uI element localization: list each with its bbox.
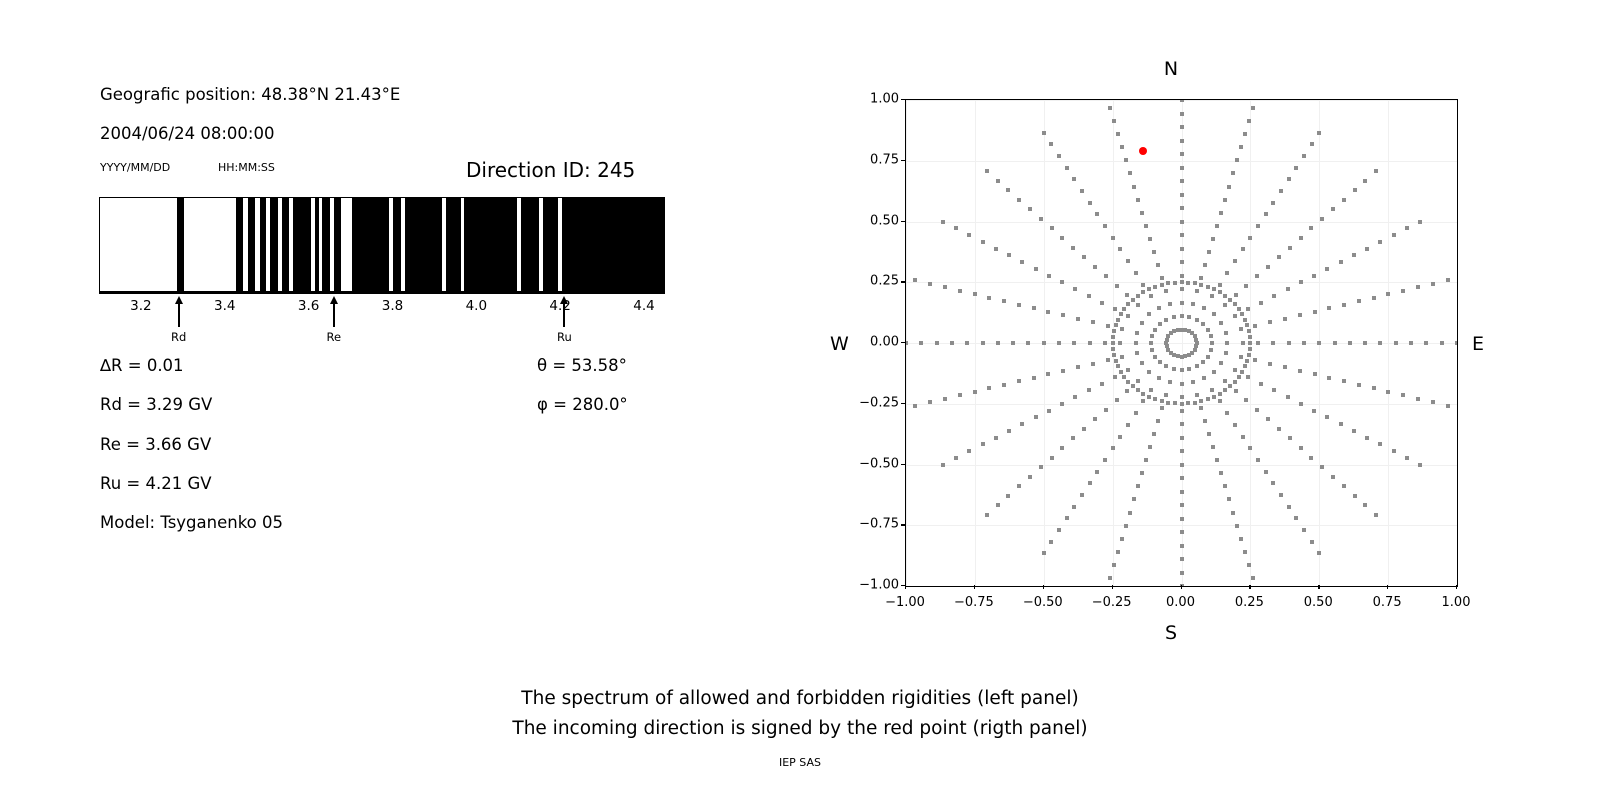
direction-point xyxy=(1193,401,1197,405)
direction-point xyxy=(1227,185,1231,189)
direction-point xyxy=(1223,303,1227,307)
direction-point xyxy=(1148,237,1152,241)
forbidden-band xyxy=(405,198,442,291)
direction-point xyxy=(941,463,945,467)
direction-point xyxy=(1080,189,1084,193)
direction-point xyxy=(1115,398,1119,402)
direction-point xyxy=(1132,185,1136,189)
direction-point xyxy=(1116,364,1120,368)
direction-point xyxy=(1006,188,1010,192)
direction-point xyxy=(1180,409,1184,413)
direction-point xyxy=(1259,382,1263,386)
x-tick-mark xyxy=(1456,585,1457,589)
compass-west-label: W xyxy=(830,333,849,355)
direction-point xyxy=(1255,408,1259,412)
direction-point xyxy=(967,449,971,453)
direction-point xyxy=(1233,259,1237,263)
direction-point xyxy=(1073,287,1077,291)
direction-point xyxy=(1180,220,1184,224)
direction-point xyxy=(1241,435,1245,439)
direction-point xyxy=(1223,379,1227,383)
direction-point xyxy=(1203,419,1207,423)
direction-point xyxy=(1212,370,1216,374)
direction-point xyxy=(1042,131,1046,135)
direction-point xyxy=(1148,445,1152,449)
direction-point xyxy=(1233,302,1237,306)
direction-point xyxy=(1136,303,1140,307)
direction-point xyxy=(1233,314,1237,318)
x-tick-label: −0.75 xyxy=(954,595,994,610)
direction-point xyxy=(1264,470,1268,474)
direction-point xyxy=(1247,353,1251,357)
direction-point xyxy=(1209,348,1213,352)
direction-point xyxy=(1091,362,1095,366)
direction-point xyxy=(967,233,971,237)
rigidity-spectrum-panel: Geografic position: 48.38°N 21.43°E 2004… xyxy=(0,0,780,800)
direction-point xyxy=(1028,475,1032,479)
direction-point xyxy=(1020,422,1024,426)
direction-point xyxy=(1409,341,1413,345)
direction-point xyxy=(1140,211,1144,215)
direction-point xyxy=(941,220,945,224)
direction-point xyxy=(1118,341,1122,345)
direction-point xyxy=(1248,236,1252,240)
direction-point xyxy=(1225,411,1229,415)
direction-point xyxy=(1212,395,1216,399)
direction-point xyxy=(1141,399,1145,403)
direction-point xyxy=(1233,368,1237,372)
direction-point xyxy=(1120,327,1124,331)
direction-point xyxy=(1378,442,1382,446)
direction-point xyxy=(1103,224,1107,228)
direction-point xyxy=(1164,364,1168,368)
direction-point xyxy=(1299,446,1303,450)
direction-point xyxy=(1317,341,1321,345)
direction-point xyxy=(1268,320,1272,324)
direction-point xyxy=(1071,246,1075,250)
direction-point xyxy=(1118,435,1122,439)
direction-point xyxy=(1157,376,1161,380)
direction-point xyxy=(985,169,989,173)
direction-point xyxy=(1187,315,1191,319)
direction-point xyxy=(1446,404,1450,408)
direction-point xyxy=(1342,484,1346,488)
direction-point xyxy=(1405,226,1409,230)
direction-point xyxy=(1180,395,1184,399)
direction-point xyxy=(1095,470,1099,474)
direction-point xyxy=(1191,380,1195,384)
direction-point xyxy=(1088,341,1092,345)
caption-line-1: The spectrum of allowed and forbidden ri… xyxy=(0,688,1600,709)
direction-map-panel: N S W E −1.00−0.75−0.50−0.250.000.250.50… xyxy=(830,0,1600,800)
direction-point xyxy=(1223,198,1227,202)
direction-point xyxy=(1256,458,1260,462)
direction-point xyxy=(1180,206,1184,210)
direction-point xyxy=(1233,423,1237,427)
direction-point xyxy=(1050,456,1054,460)
y-tick-label: −0.50 xyxy=(847,456,899,471)
direction-point xyxy=(1240,370,1244,374)
direction-point xyxy=(1180,463,1184,467)
direction-point xyxy=(996,503,1000,507)
direction-point xyxy=(1112,329,1116,333)
x-tick-mark xyxy=(905,585,906,589)
direction-point xyxy=(996,341,1000,345)
direction-point xyxy=(1187,353,1191,357)
caption-line-2: The incoming direction is signed by the … xyxy=(0,718,1600,739)
direction-point xyxy=(1352,429,1356,433)
rigidity-tick-label: 3.4 xyxy=(214,298,235,314)
direction-point xyxy=(1103,341,1107,345)
direction-point xyxy=(1218,392,1222,396)
direction-point xyxy=(1455,341,1458,345)
direction-point xyxy=(1180,280,1184,284)
direction-point xyxy=(1144,458,1148,462)
direction-point xyxy=(1160,283,1164,287)
direction-point xyxy=(1241,247,1245,251)
direction-point xyxy=(1219,361,1223,365)
direction-point xyxy=(1186,401,1190,405)
direction-point xyxy=(1251,576,1255,580)
direction-point xyxy=(1418,463,1422,467)
direction-point xyxy=(1255,274,1259,278)
direction-point xyxy=(1357,383,1361,387)
direction-point xyxy=(1212,312,1216,316)
direction-point xyxy=(1180,530,1184,534)
direction-point xyxy=(1164,289,1168,293)
direction-point xyxy=(1298,313,1302,317)
direction-point xyxy=(1248,335,1252,339)
direction-point xyxy=(1034,415,1038,419)
direction-point xyxy=(1223,484,1227,488)
direction-point xyxy=(1259,301,1263,305)
direction-point xyxy=(1017,303,1021,307)
direction-point xyxy=(1215,458,1219,462)
direction-point xyxy=(1180,193,1184,197)
direction-point xyxy=(1039,217,1043,221)
direction-point xyxy=(1264,212,1268,216)
direction-point xyxy=(1183,354,1187,358)
direction-point xyxy=(1212,287,1216,291)
direction-point xyxy=(1164,393,1168,397)
direction-point xyxy=(1011,341,1015,345)
forbidden-band xyxy=(521,198,539,291)
direction-point xyxy=(1095,212,1099,216)
direction-point xyxy=(1287,505,1291,509)
direction-point xyxy=(1239,145,1243,149)
direction-point xyxy=(985,513,989,517)
direction-point xyxy=(1365,247,1369,251)
parameter-item: θ = 53.58° xyxy=(537,356,627,375)
direction-point xyxy=(1180,503,1184,507)
direction-point xyxy=(1111,335,1115,339)
direction-point xyxy=(1147,370,1151,374)
direction-point xyxy=(1065,516,1069,520)
direction-point xyxy=(1140,321,1144,325)
direction-point xyxy=(1215,224,1219,228)
direction-point xyxy=(919,341,923,345)
y-tick-mark xyxy=(901,221,905,222)
direction-point xyxy=(1299,402,1303,406)
rigidity-tick-label: 4.0 xyxy=(466,298,487,314)
direction-point xyxy=(1342,303,1346,307)
direction-point xyxy=(1320,465,1324,469)
direction-point xyxy=(1186,281,1190,285)
direction-point xyxy=(1202,376,1206,380)
direction-point xyxy=(1128,171,1132,175)
time-format-hint: HH:MM:SS xyxy=(218,161,275,174)
y-tick-label: −1.00 xyxy=(847,578,899,593)
parameter-item: φ = 280.0° xyxy=(537,395,628,414)
direction-point xyxy=(1168,302,1172,306)
direction-point xyxy=(1286,287,1290,291)
direction-point xyxy=(1122,375,1126,379)
direction-point xyxy=(1199,283,1203,287)
direction-point xyxy=(1180,571,1184,575)
direction-point xyxy=(1100,382,1104,386)
direction-point xyxy=(1363,179,1367,183)
direction-point xyxy=(1234,389,1238,393)
direction-point xyxy=(928,282,932,286)
direction-point xyxy=(1147,312,1151,316)
forbidden-band xyxy=(177,198,184,291)
direction-point xyxy=(1156,419,1160,423)
direction-point xyxy=(1327,306,1331,310)
direction-point xyxy=(1207,432,1211,436)
direction-point xyxy=(1180,476,1184,480)
direction-point xyxy=(1211,445,1215,449)
direction-point xyxy=(1211,237,1215,241)
direction-point xyxy=(1283,365,1287,369)
x-tick-label: 1.00 xyxy=(1442,595,1471,610)
direction-point xyxy=(1363,341,1367,345)
direction-point xyxy=(1050,226,1054,230)
direction-point xyxy=(1111,341,1115,345)
forbidden-band xyxy=(334,198,342,291)
forbidden-band xyxy=(352,198,390,291)
direction-point xyxy=(1152,250,1156,254)
direction-point xyxy=(1126,314,1130,318)
marker-arrow-re xyxy=(333,302,335,327)
direction-point xyxy=(1060,280,1064,284)
direction-point xyxy=(1119,370,1123,374)
marker-label-ru: Ru xyxy=(557,330,572,344)
direction-point xyxy=(1180,355,1184,359)
y-tick-label: −0.75 xyxy=(847,517,899,532)
compass-south-label: S xyxy=(1165,622,1177,644)
direction-point xyxy=(1283,317,1287,321)
direction-point xyxy=(1288,436,1292,440)
forbidden-band xyxy=(282,198,290,291)
direction-point xyxy=(1087,388,1091,392)
direction-point xyxy=(1180,112,1184,116)
direction-point xyxy=(1310,540,1314,544)
direction-point xyxy=(1114,359,1118,363)
direction-point xyxy=(1193,281,1197,285)
direction-point xyxy=(1372,296,1376,300)
direction-point xyxy=(1173,401,1177,405)
x-tick-mark xyxy=(974,585,975,589)
direction-point xyxy=(1020,260,1024,264)
direction-point xyxy=(1339,260,1343,264)
x-tick-label: 0.75 xyxy=(1373,595,1402,610)
direction-point xyxy=(1047,274,1051,278)
direction-point xyxy=(1240,312,1244,316)
direction-point xyxy=(1172,315,1176,319)
direction-point xyxy=(1219,211,1223,215)
y-tick-label: 0.00 xyxy=(847,335,899,350)
forbidden-band xyxy=(293,198,311,291)
direction-point xyxy=(1135,331,1139,335)
direction-point xyxy=(1180,557,1184,561)
direction-point xyxy=(1082,255,1086,259)
direction-point xyxy=(1164,341,1168,345)
date-format-hint: YYYY/MM/DD xyxy=(100,161,170,174)
direction-point xyxy=(1126,259,1130,263)
direction-point xyxy=(1239,327,1243,331)
direction-point xyxy=(1201,322,1205,326)
direction-point xyxy=(1440,341,1444,345)
direction-point xyxy=(1248,347,1252,351)
direction-point xyxy=(1113,375,1117,379)
parameter-item: Ru = 4.21 GV xyxy=(100,474,212,493)
y-tick-label: 0.25 xyxy=(847,274,899,289)
geographic-position-label: Geografic position: 48.38°N 21.43°E xyxy=(100,85,400,104)
direction-point xyxy=(1002,383,1006,387)
direction-point xyxy=(981,341,985,345)
direction-point xyxy=(1277,255,1281,259)
direction-point xyxy=(1061,313,1065,317)
direction-point xyxy=(1180,99,1184,102)
direction-point xyxy=(1166,401,1170,405)
direction-point xyxy=(1082,427,1086,431)
gridline-vertical xyxy=(1457,100,1458,586)
direction-point xyxy=(1007,253,1011,257)
direction-point xyxy=(1017,484,1021,488)
y-tick-mark xyxy=(901,464,905,465)
direction-point xyxy=(1195,393,1199,397)
direction-point xyxy=(1006,494,1010,498)
direction-point xyxy=(1126,423,1130,427)
direction-point xyxy=(1180,449,1184,453)
direction-point xyxy=(1228,298,1232,302)
direction-point xyxy=(1017,379,1021,383)
direction-point xyxy=(1342,198,1346,202)
direction-point xyxy=(1149,388,1153,392)
direction-point xyxy=(1253,358,1257,362)
direction-point xyxy=(1104,274,1108,278)
direction-point xyxy=(1149,294,1153,298)
direction-point xyxy=(913,278,917,282)
direction-point xyxy=(1352,253,1356,257)
direction-point xyxy=(1180,287,1184,291)
direction-point xyxy=(1180,179,1184,183)
direction-point xyxy=(1088,201,1092,205)
gridline-horizontal xyxy=(906,525,1457,526)
direction-point xyxy=(1108,576,1112,580)
direction-point xyxy=(1136,198,1140,202)
direction-point xyxy=(1180,436,1184,440)
y-tick-mark xyxy=(901,403,905,404)
direction-point xyxy=(1073,395,1077,399)
direction-point xyxy=(1392,233,1396,237)
direction-point xyxy=(1134,271,1138,275)
direction-point xyxy=(1180,382,1184,386)
footer-credit: IEP SAS xyxy=(0,756,1600,769)
direction-point xyxy=(1076,365,1080,369)
direction-point xyxy=(1124,524,1128,528)
x-tick-label: 0.25 xyxy=(1235,595,1264,610)
direction-point xyxy=(913,404,917,408)
direction-point xyxy=(1424,341,1428,345)
x-tick-mark xyxy=(1181,585,1182,589)
direction-point xyxy=(1140,361,1144,365)
direction-point xyxy=(1253,324,1257,328)
x-tick-label: −0.50 xyxy=(1023,595,1063,610)
direction-point xyxy=(1180,125,1184,129)
direction-point xyxy=(1172,367,1176,371)
direction-point xyxy=(1247,329,1251,333)
direction-point xyxy=(1218,283,1222,287)
direction-point xyxy=(1131,298,1135,302)
direction-point xyxy=(1353,188,1357,192)
direction-point xyxy=(1039,465,1043,469)
direction-point xyxy=(1309,226,1313,230)
direction-point xyxy=(1165,344,1169,348)
direction-point xyxy=(1206,328,1210,332)
compass-north-label: N xyxy=(1164,58,1178,80)
direction-point xyxy=(1210,388,1214,392)
direction-point xyxy=(1313,310,1317,314)
direction-point xyxy=(1180,166,1184,170)
direction-point xyxy=(1150,348,1154,352)
forbidden-band xyxy=(464,198,517,291)
direction-point xyxy=(1239,537,1243,541)
direction-point xyxy=(1210,294,1214,298)
direction-point xyxy=(1049,142,1053,146)
direction-point xyxy=(1131,384,1135,388)
direction-point xyxy=(1032,306,1036,310)
direction-point xyxy=(1116,132,1120,136)
parameter-item: ∆R = 0.01 xyxy=(100,356,184,375)
direction-point xyxy=(1234,293,1238,297)
direction-point xyxy=(1203,263,1207,267)
direction-point xyxy=(1248,446,1252,450)
direction-point xyxy=(1049,540,1053,544)
direction-point xyxy=(1124,158,1128,162)
x-tick-label: −1.00 xyxy=(885,595,925,610)
direction-point xyxy=(1386,390,1390,394)
direction-point xyxy=(1149,341,1153,345)
direction-point xyxy=(1271,481,1275,485)
direction-point xyxy=(1135,351,1139,355)
direction-point xyxy=(1310,142,1314,146)
direction-point xyxy=(1244,284,1248,288)
direction-point xyxy=(1333,341,1337,345)
direction-point xyxy=(1233,380,1237,384)
direction-point xyxy=(1180,152,1184,156)
direction-point xyxy=(1219,471,1223,475)
direction-point xyxy=(1126,302,1130,306)
direction-point xyxy=(1245,323,1249,327)
marker-label-re: Re xyxy=(327,330,342,344)
direction-point xyxy=(958,289,962,293)
direction-point xyxy=(1032,376,1036,380)
direction-point xyxy=(965,341,969,345)
direction-point xyxy=(1235,158,1239,162)
direction-point xyxy=(1106,324,1110,328)
direction-point xyxy=(1401,393,1405,397)
